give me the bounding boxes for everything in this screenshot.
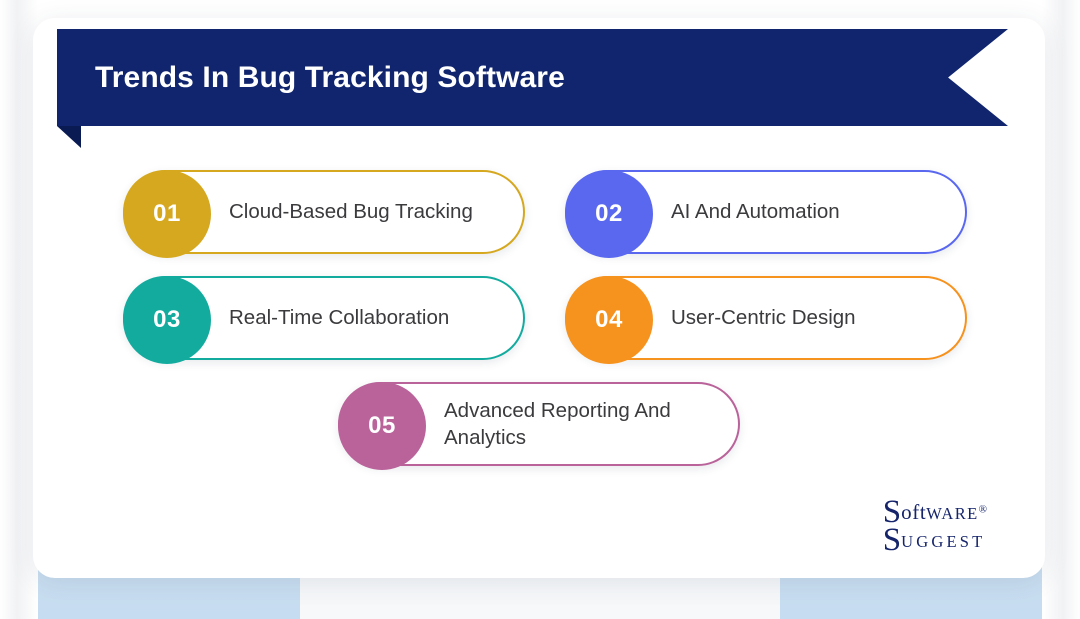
logo-line-2: Suggest	[883, 524, 987, 556]
trend-item-advanced-reporting-and-analytics[interactable]: 05 Advanced Reporting And Analytics	[338, 382, 740, 466]
trend-item-ai-and-automation[interactable]: 02 AI And Automation	[565, 170, 967, 254]
logo-s-glyph-2: S	[883, 522, 901, 558]
trend-number-badge-01: 01	[123, 170, 211, 258]
trend-list: 01 Cloud-Based Bug Tracking 02 AI And Au…	[33, 170, 1045, 488]
trend-label-05: Advanced Reporting And Analytics	[444, 397, 716, 451]
content-card: Trends In Bug Tracking Software 01 Cloud…	[33, 18, 1045, 578]
trend-row-2: 03 Real-Time Collaboration 04 User-Centr…	[33, 276, 1045, 360]
logo-uggest-text: uggest	[901, 532, 985, 551]
trend-item-user-centric-design[interactable]: 04 User-Centric Design	[565, 276, 967, 360]
trend-number-badge-05: 05	[338, 382, 426, 470]
trend-label-02: AI And Automation	[671, 198, 840, 225]
softwaresuggest-logo: Software® Suggest	[883, 496, 987, 556]
trend-item-cloud-based-bug-tracking[interactable]: 01 Cloud-Based Bug Tracking	[123, 170, 525, 254]
header-ribbon: Trends In Bug Tracking Software	[57, 29, 1008, 126]
trend-label-03: Real-Time Collaboration	[229, 304, 449, 331]
trend-number-badge-03: 03	[123, 276, 211, 364]
trend-label-01: Cloud-Based Bug Tracking	[229, 198, 473, 225]
logo-soft-text: oft	[901, 500, 926, 524]
infographic-canvas: Trends In Bug Tracking Software 01 Cloud…	[0, 0, 1080, 619]
logo-ware-text: ware	[926, 504, 978, 523]
registered-trademark-icon: ®	[979, 504, 987, 516]
trend-label-04: User-Centric Design	[671, 304, 856, 331]
trend-item-real-time-collaboration[interactable]: 03 Real-Time Collaboration	[123, 276, 525, 360]
trend-row-1: 01 Cloud-Based Bug Tracking 02 AI And Au…	[33, 170, 1045, 254]
page-title: Trends In Bug Tracking Software	[95, 61, 565, 95]
trend-number-badge-04: 04	[565, 276, 653, 364]
header-ribbon-container: Trends In Bug Tracking Software	[33, 18, 1008, 128]
trend-row-3: 05 Advanced Reporting And Analytics	[33, 382, 1045, 466]
trend-number-badge-02: 02	[565, 170, 653, 258]
header-ribbon-fold	[57, 126, 81, 148]
